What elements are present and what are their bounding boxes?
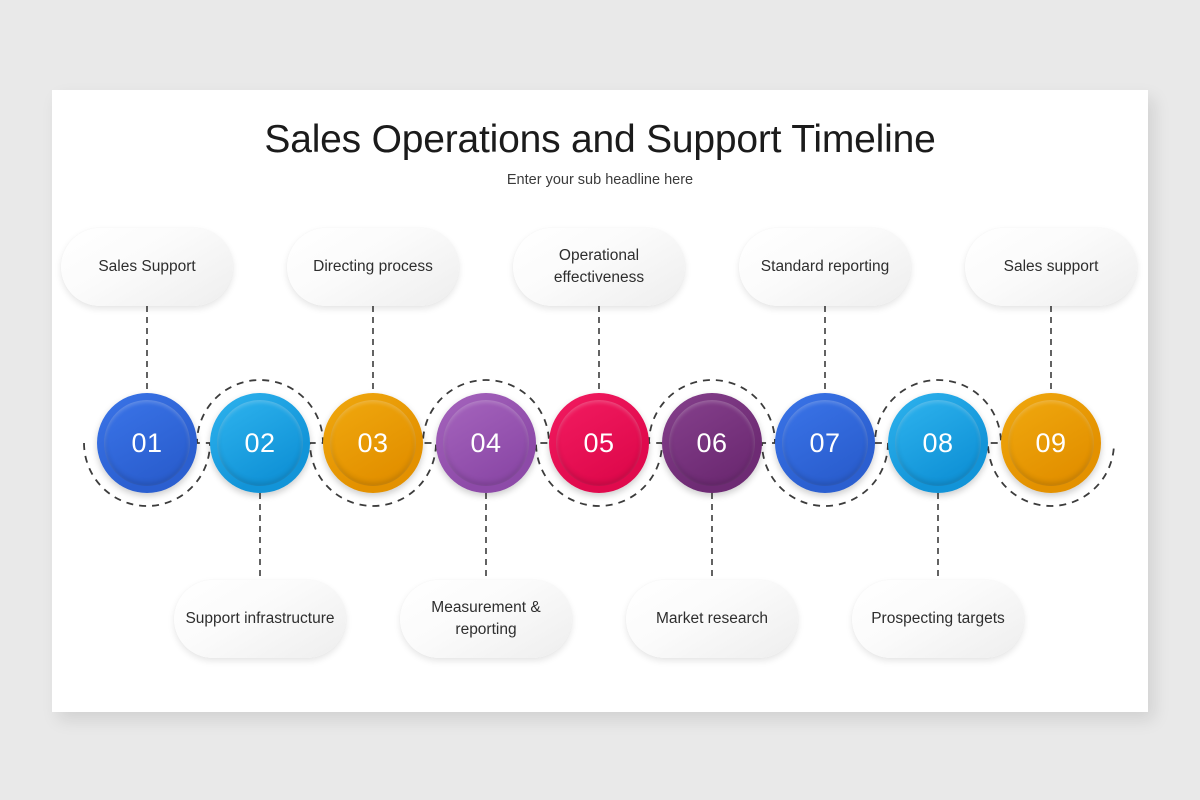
timeline-label-text-05: Operational effectiveness xyxy=(513,245,685,290)
timeline-label-06[interactable]: Market research xyxy=(626,580,798,658)
timeline-label-09[interactable]: Sales support xyxy=(965,228,1137,306)
timeline-label-03[interactable]: Directing process xyxy=(287,228,459,306)
timeline-node-06[interactable]: 06 xyxy=(662,393,762,493)
timeline-label-text-09: Sales support xyxy=(994,256,1109,278)
timeline-label-text-02: Support infrastructure xyxy=(175,608,344,630)
node-number-05: 05 xyxy=(583,430,614,457)
node-disc-01: 01 xyxy=(104,400,190,486)
timeline-label-text-06: Market research xyxy=(646,608,778,630)
timeline-label-text-08: Prospecting targets xyxy=(861,608,1015,630)
node-disc-02: 02 xyxy=(217,400,303,486)
node-disc-03: 03 xyxy=(330,400,416,486)
timeline-label-04[interactable]: Measurement & reporting xyxy=(400,580,572,658)
timeline-node-02[interactable]: 02 xyxy=(210,393,310,493)
node-disc-08: 08 xyxy=(895,400,981,486)
timeline-label-text-03: Directing process xyxy=(303,256,443,278)
timeline-node-04[interactable]: 04 xyxy=(436,393,536,493)
node-number-07: 07 xyxy=(809,430,840,457)
node-disc-06: 06 xyxy=(669,400,755,486)
timeline-node-09[interactable]: 09 xyxy=(1001,393,1101,493)
timeline-label-text-07: Standard reporting xyxy=(751,256,899,278)
timeline-label-01[interactable]: Sales Support xyxy=(61,228,233,306)
timeline-node-01[interactable]: 01 xyxy=(97,393,197,493)
node-disc-09: 09 xyxy=(1008,400,1094,486)
node-number-01: 01 xyxy=(131,430,162,457)
node-number-02: 02 xyxy=(244,430,275,457)
timeline-label-text-04: Measurement & reporting xyxy=(400,597,572,642)
timeline: 010203040506070809 Sales SupportSupport … xyxy=(52,90,1148,712)
timeline-node-07[interactable]: 07 xyxy=(775,393,875,493)
node-number-06: 06 xyxy=(696,430,727,457)
timeline-node-03[interactable]: 03 xyxy=(323,393,423,493)
timeline-node-05[interactable]: 05 xyxy=(549,393,649,493)
node-number-08: 08 xyxy=(922,430,953,457)
slide-card: Sales Operations and Support Timeline En… xyxy=(52,90,1148,712)
node-disc-05: 05 xyxy=(556,400,642,486)
timeline-node-08[interactable]: 08 xyxy=(888,393,988,493)
timeline-label-05[interactable]: Operational effectiveness xyxy=(513,228,685,306)
timeline-label-text-01: Sales Support xyxy=(88,256,205,278)
node-number-09: 09 xyxy=(1035,430,1066,457)
timeline-label-08[interactable]: Prospecting targets xyxy=(852,580,1024,658)
node-disc-04: 04 xyxy=(443,400,529,486)
node-number-04: 04 xyxy=(470,430,501,457)
node-number-03: 03 xyxy=(357,430,388,457)
timeline-label-07[interactable]: Standard reporting xyxy=(739,228,911,306)
timeline-label-02[interactable]: Support infrastructure xyxy=(174,580,346,658)
node-disc-07: 07 xyxy=(782,400,868,486)
